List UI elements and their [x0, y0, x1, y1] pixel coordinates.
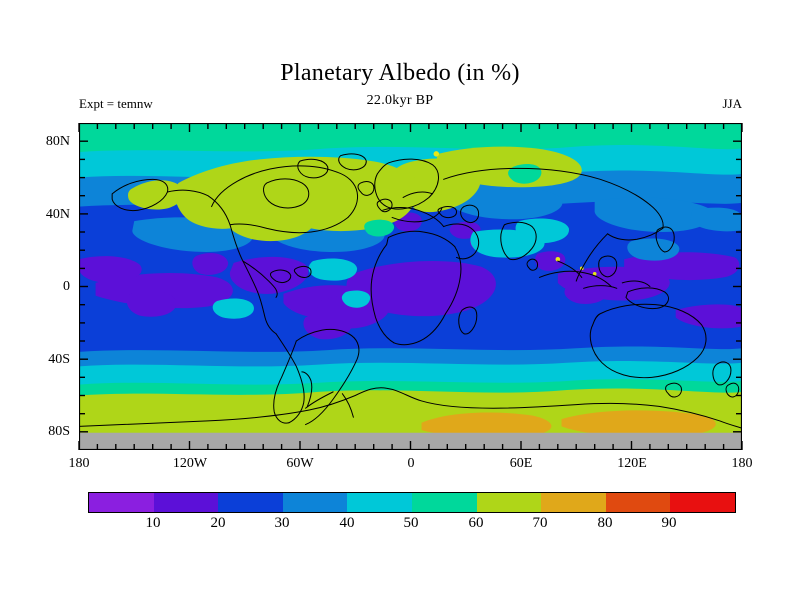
colorbar-tick-40: 40: [322, 515, 372, 532]
colorbar-band-8: [606, 493, 671, 512]
colorbar-band-6: [477, 493, 542, 512]
colorbar-tick-60: 60: [451, 515, 501, 532]
page-title: Planetary Albedo (in %): [0, 60, 800, 87]
colorbar: [88, 492, 736, 513]
ytick-label-80n: 80N: [10, 134, 70, 150]
colorbar-tick-90: 90: [644, 515, 694, 532]
colorbar-band-5: [412, 493, 477, 512]
colorbar-tick-80: 80: [580, 515, 630, 532]
xtick-label-120e: 120E: [592, 456, 672, 472]
colorbar-band-7: [541, 493, 606, 512]
season-label: JJA: [722, 96, 742, 112]
colorbar-tick-30: 30: [257, 515, 307, 532]
ytick-label-80s: 80S: [10, 424, 70, 440]
xtick-label-60w: 60W: [260, 456, 340, 472]
colorbar-band-3: [283, 493, 348, 512]
colorbar-band-1: [154, 493, 219, 512]
figure-canvas: Planetary Albedo (in %) 22.0kyr BP Expt …: [0, 0, 800, 600]
xtick-label-120w: 120W: [150, 456, 230, 472]
axis-ticks: [69, 113, 762, 470]
colorbar-tick-20: 20: [193, 515, 243, 532]
ytick-label-0: 0: [10, 279, 70, 295]
colorbar-band-2: [218, 493, 283, 512]
colorbar-tick-70: 70: [515, 515, 565, 532]
ytick-label-40n: 40N: [10, 207, 70, 223]
colorbar-band-9: [670, 493, 735, 512]
ytick-label-40s: 40S: [10, 352, 70, 368]
xtick-label-180w: 180: [39, 456, 119, 472]
experiment-label: Expt = temnw: [79, 96, 153, 112]
xtick-label-0: 0: [371, 456, 451, 472]
xtick-label-60e: 60E: [481, 456, 561, 472]
colorbar-band-4: [347, 493, 412, 512]
colorbar-tick-10: 10: [128, 515, 178, 532]
colorbar-tick-50: 50: [386, 515, 436, 532]
colorbar-band-0: [89, 493, 154, 512]
xtick-label-180e: 180: [702, 456, 782, 472]
